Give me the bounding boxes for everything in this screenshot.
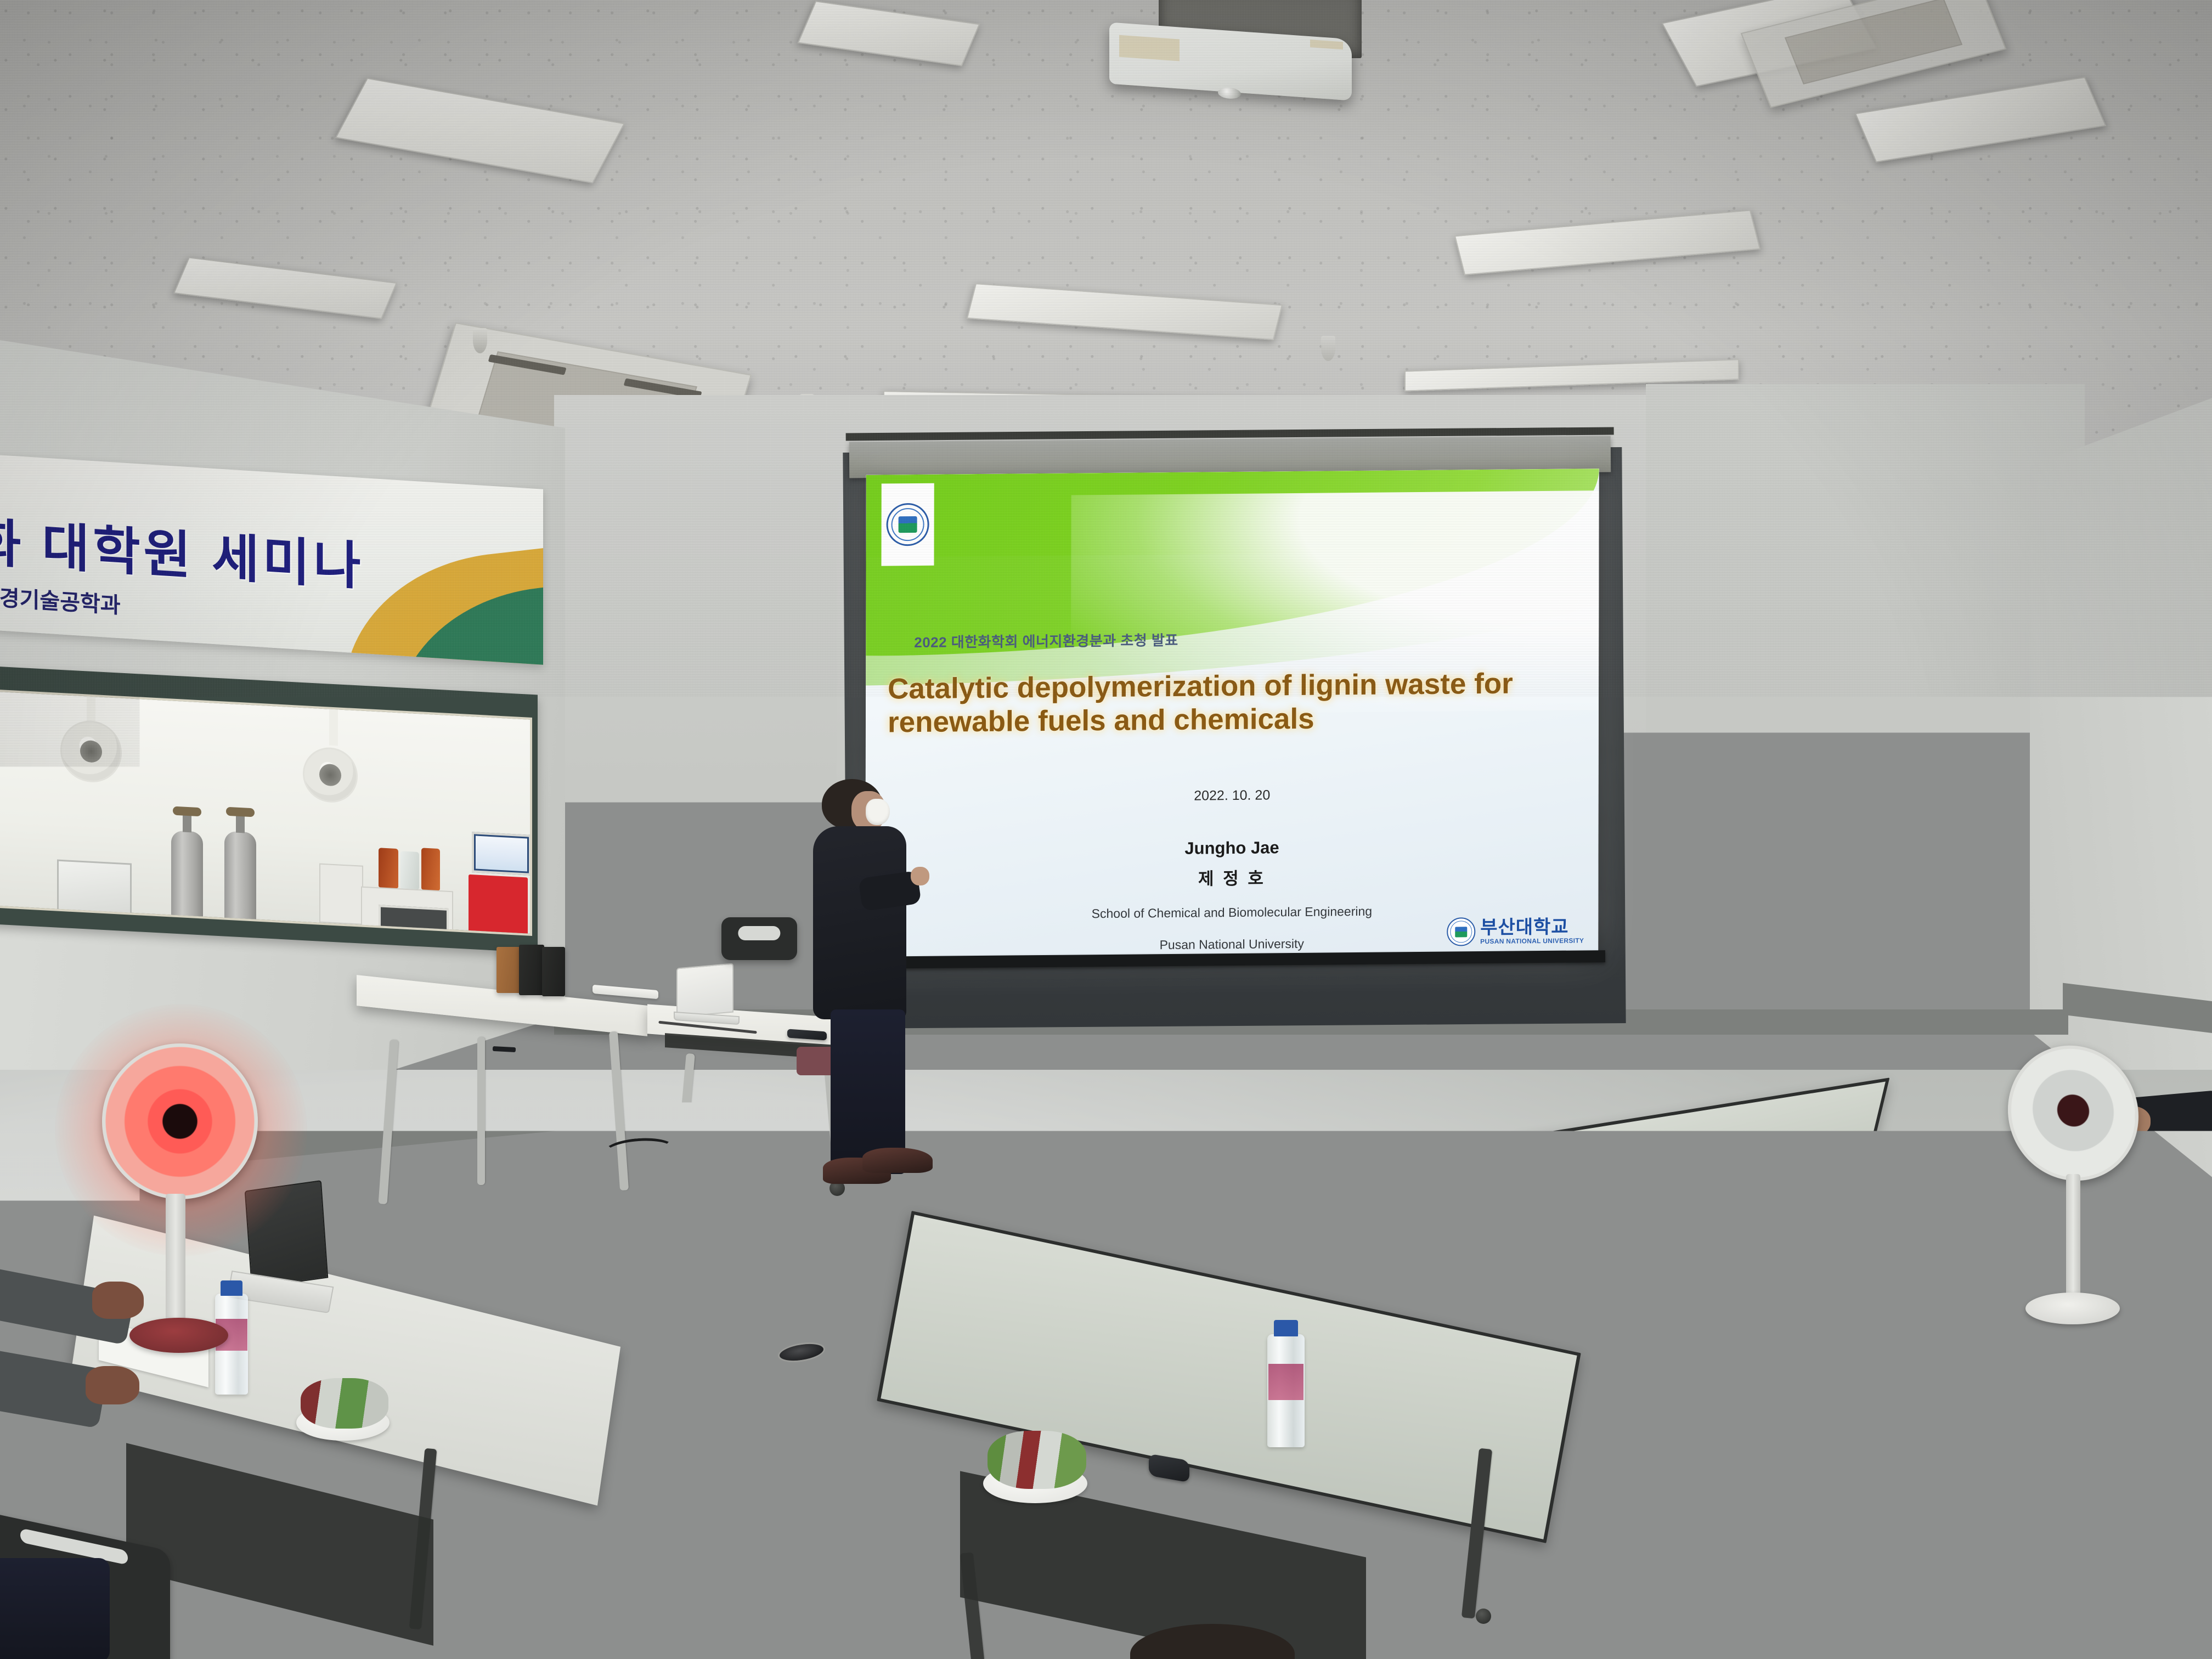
right-wall-far [1646,384,2085,1163]
banner-subtitle-text: 환경기술공학과 [0,579,121,619]
clear-reagent-bottle [400,851,419,889]
lab-computer-monitor [472,832,531,876]
seminar-room-photo: 화 대학원 세미나 환경기술공학과 [0,0,2212,1659]
red-instrument-cabinet [469,874,528,936]
attendee-hand [92,1282,144,1319]
sprinkler-head [473,328,487,353]
iced-coffee-cup[interactable] [1998,1398,2068,1508]
pnu-seal-icon [887,503,929,546]
slide-logo-korean: 부산대학교 [1480,917,1584,938]
table-caster [1476,1609,1491,1624]
table-caster [1802,1322,1817,1338]
slide-logo-text-group: 부산대학교 PUSAN NATIONAL UNIVERSITY [1480,917,1584,945]
slide-university-logo: 부산대학교 PUSAN NATIONAL UNIVERSITY [1447,916,1584,946]
sprinkler-head [1321,336,1335,361]
attendee-trousers [0,1558,110,1659]
slide-author-korean: 제 정 호 [865,861,1598,893]
water-bottle[interactable] [1267,1334,1305,1447]
bottle-label [1268,1364,1304,1400]
hplc-door-window [379,905,449,936]
radiant-heater-left[interactable] [102,1043,258,1199]
heater-base [129,1318,228,1353]
cylinder-regulator-knob [226,807,255,817]
bottle-cap [2087,1351,2111,1367]
wall-fan-arm [329,705,338,746]
attendee-hand [86,1366,139,1404]
cylinder-regulator-knob [173,806,201,817]
analytical-balance [57,860,132,921]
snack-wrappers [301,1378,388,1429]
presenter-shoe [862,1148,933,1173]
slide-university-badge [882,483,934,566]
gas-cylinder [224,831,256,936]
attendee-head [1130,1624,1295,1659]
attendee-trousers [2119,1142,2212,1224]
presenter [779,774,933,1201]
presenter-face-mask [866,799,890,825]
table-caster [676,1186,691,1201]
attendee-foreground-head [1130,1624,1295,1659]
hplc-module [319,864,363,925]
attendee-left [0,1276,252,1496]
presenter-hand [911,867,929,885]
gas-cylinder [171,830,203,935]
amber-reagent-bottle [379,848,398,888]
table-leg [477,1037,485,1185]
slide-kicker-text: 2022 대한화학회 에너지환경분과 초청 발표 [914,629,1178,652]
lab-viewing-window [0,666,538,953]
bottle-cap [1274,1320,1298,1336]
heater-base [2025,1293,2120,1324]
tower-speaker [760,1345,842,1659]
heater-stand [2066,1174,2080,1311]
projector-label [1119,35,1180,61]
access-panel-latch-icon[interactable] [1668,878,1676,900]
water-bottle[interactable] [2080,1365,2118,1475]
projector-screen[interactable]: 2022 대한화학회 에너지환경분과 초청 발표 Catalytic depol… [865,469,1599,958]
attendee-laptop-lid[interactable] [245,1180,329,1289]
snack-wrappers [988,1431,1086,1489]
presenter-jacket [813,826,906,1019]
desk-speaker-right [542,947,565,996]
desk-speaker-center [519,945,544,995]
pnu-logo-seal-icon [1447,917,1475,946]
seminar-banner: 화 대학원 세미나 환경기술공학과 [0,454,543,665]
amber-reagent-bottle [421,848,440,890]
bottle-label [2081,1393,2117,1427]
wall-fan-icon [60,719,122,784]
lab-window-glass [0,689,532,936]
monitor-screen [476,836,527,872]
attendee-left-legs [0,1558,165,1659]
snack-wrappers [1547,1288,1587,1310]
marker-pen[interactable] [493,1046,516,1052]
slide-logo-english: PUSAN NATIONAL UNIVERSITY [1480,937,1584,945]
table-caster [1579,1355,1594,1370]
slide-date-text: 2022. 10. 20 [866,785,1599,807]
wall-fan-icon [303,746,358,804]
heater-stand [166,1194,185,1336]
presenter-laptop-lid[interactable] [676,963,733,1017]
projector-label [1310,39,1343,49]
slide-title-text: Catalytic depolymerization of lignin was… [888,666,1580,740]
title-slide: 2022 대한화학회 에너지환경분과 초청 발표 Catalytic depol… [865,469,1599,958]
slide-author-english: Jungho Jae [866,835,1599,861]
pnu-seal-emblem-icon [899,516,917,533]
utility-access-panel[interactable] [1656,825,1782,951]
